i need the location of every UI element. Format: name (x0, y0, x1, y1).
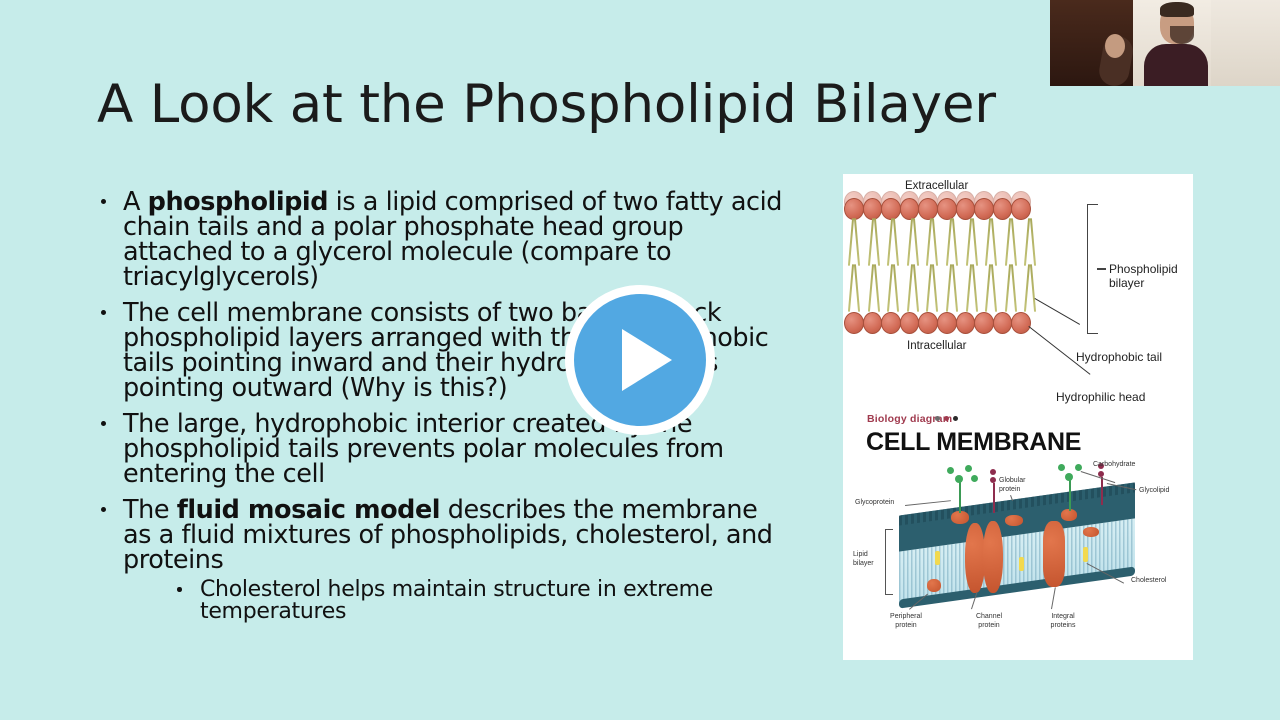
play-button[interactable] (565, 285, 715, 435)
cholesterol-shape (1019, 557, 1024, 571)
globular-protein-shape (1005, 515, 1023, 526)
phospholipid-tail-row-lower (845, 264, 1041, 312)
label-carbohydrate: Carbohydrate (1093, 461, 1135, 470)
label-lipid-bilayer: Lipid bilayer (853, 551, 881, 568)
channel-protein-shape (965, 523, 985, 593)
phospholipid-head-row-top (845, 198, 1041, 220)
bilayer-bracket-tick (1097, 268, 1106, 270)
presenter-body (1144, 44, 1208, 86)
page-title: A Look at the Phospholipid Bilayer (97, 74, 996, 135)
sub-bullet-marker-icon (177, 587, 182, 592)
bullet-item: The large, hydrophobic interior created … (98, 412, 788, 487)
label-hydrophilic-head: Hydrophilic head (1056, 390, 1145, 404)
play-icon (622, 329, 672, 391)
membrane-illustration (845, 196, 1041, 336)
phospholipid-head-row-bottom (845, 312, 1041, 334)
cell-membrane-diagram: Biology diagram CELL MEMBRANE (843, 409, 1193, 660)
glycolipid-stalk (993, 483, 995, 513)
dot-icon-2 (944, 416, 949, 421)
cholesterol-shape (935, 551, 940, 565)
glycoprotein-stalk (959, 481, 961, 513)
dot-icon-3 (953, 416, 958, 421)
bullet-text-4: The fluid mosaic model describes the mem… (123, 495, 773, 575)
label-cell-membrane-heading: CELL MEMBRANE (866, 428, 1081, 457)
label-hydrophobic-tail: Hydrophobic tail (1076, 350, 1162, 364)
glycolipid-ball (990, 469, 996, 475)
bullet-text-1: A phospholipid is a lipid comprised of t… (123, 187, 782, 292)
sub-bullet-item: Cholesterol helps maintain structure in … (173, 579, 788, 623)
label-channel-protein: Channel protein (969, 613, 1009, 630)
label-integral-proteins: Integral proteins (1043, 613, 1083, 630)
bullet-marker-icon (101, 507, 106, 512)
presenter-video-overlay[interactable] (1050, 0, 1280, 86)
leader-line-integral-proteins (1051, 587, 1056, 609)
carbohydrate-ball (1065, 473, 1073, 481)
leader-line-hydrophobic-tail (1035, 298, 1081, 325)
carbohydrate-ball (947, 467, 954, 474)
presenter-beard (1170, 26, 1194, 44)
bullet-marker-icon (101, 421, 106, 426)
label-glycoprotein: Glycoprotein (855, 499, 894, 508)
video-background-right (1211, 0, 1280, 86)
channel-protein-shape-2 (983, 521, 1003, 593)
dot-icon-1 (935, 416, 940, 421)
carbohydrate-ball (955, 475, 963, 483)
label-phospholipid-bilayer: Phospholipid bilayer (1109, 262, 1191, 290)
glycoprotein-stalk-2 (1069, 479, 1071, 511)
bullet-marker-icon (101, 199, 106, 204)
globular-protein-shape-2 (1083, 527, 1099, 537)
phospholipid-tail-row-upper (845, 218, 1041, 266)
figure-panel: Extracellular Intracellular (843, 174, 1193, 660)
presenter-hair (1160, 2, 1194, 17)
carbohydrate-ball (1058, 464, 1065, 471)
bullet-item: A phospholipid is a lipid comprised of t… (98, 190, 788, 290)
label-glycolipid: Glycolipid (1139, 487, 1169, 496)
glycolipid-stalk-2 (1101, 477, 1103, 505)
glycolipid-ball (990, 477, 996, 483)
peripheral-protein-shape (927, 579, 941, 592)
cholesterol-shape (1083, 547, 1088, 562)
carbohydrate-ball (971, 475, 978, 482)
integral-protein-shape (1043, 521, 1065, 587)
leader-line-glycoprotein (905, 500, 951, 506)
label-peripheral-protein: Peripheral protein (883, 613, 929, 630)
carbohydrate-ball (1075, 464, 1082, 471)
bullet-item: The fluid mosaic model describes the mem… (98, 498, 788, 623)
sub-bullet-text-1: Cholesterol helps maintain structure in … (200, 577, 713, 624)
phospholipid-bilayer-diagram: Extracellular Intracellular (843, 174, 1193, 409)
presentation-slide: A Look at the Phospholipid Bilayer A pho… (0, 0, 1280, 720)
label-intracellular: Intracellular (907, 340, 966, 352)
cell-membrane-illustration: Glycoprotein Globular protein Carbohydra… (843, 461, 1193, 660)
lipid-bilayer-bracket (885, 529, 893, 595)
label-globular-protein: Globular protein (999, 477, 1039, 494)
bullet-marker-icon (101, 310, 106, 315)
carbohydrate-ball (965, 465, 972, 472)
label-cholesterol: Cholesterol (1131, 577, 1166, 586)
